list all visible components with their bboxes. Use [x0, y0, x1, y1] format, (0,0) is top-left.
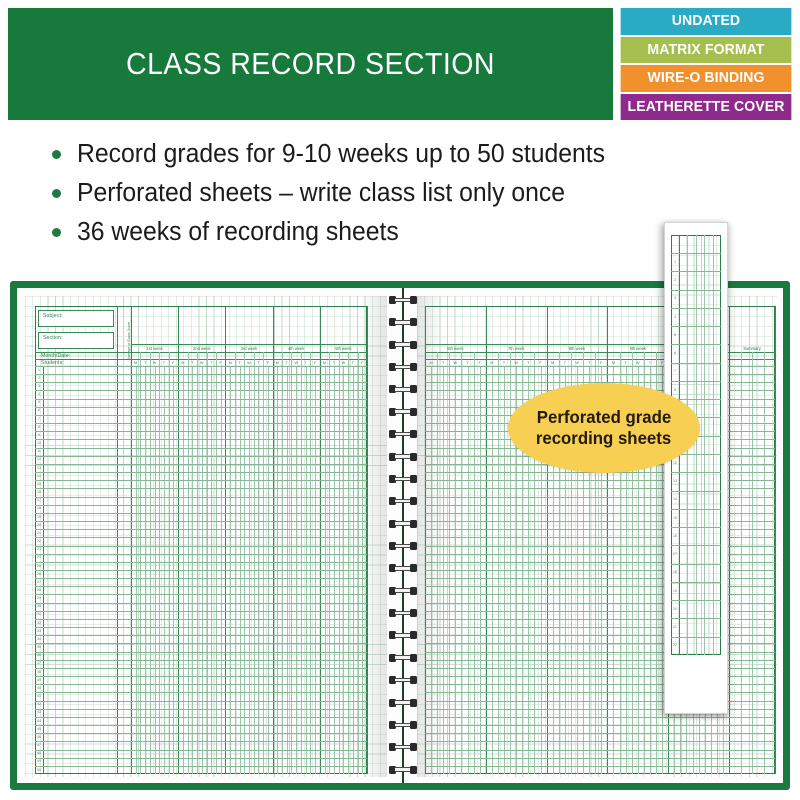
student-row-rule: [35, 709, 367, 710]
student-row-number: 6: [35, 408, 43, 412]
bullet-text: Perforated sheets – write class list onl…: [77, 179, 565, 208]
student-row-number: 29: [35, 596, 43, 600]
student-row-rule: [35, 701, 367, 702]
student-row-number: 34: [35, 637, 43, 641]
day-letter: T: [437, 361, 449, 365]
badge-undated: UNDATED: [621, 8, 792, 35]
day-letter: T: [583, 361, 595, 365]
day-letter: W: [197, 361, 206, 365]
wire-loop: [387, 564, 419, 572]
student-row-rule: [35, 766, 367, 767]
wire-loop-cap-right: [410, 520, 417, 528]
student-row-number: 4: [35, 392, 43, 396]
student-row-number: 21: [35, 531, 43, 535]
bullet-text: Record grades for 9-10 weeks up to 50 st…: [77, 140, 605, 169]
wire-loop-bar: [395, 477, 411, 482]
wire-loop: [387, 721, 419, 729]
lifted-row-rule: [671, 381, 721, 382]
day-letter: M: [547, 361, 559, 365]
student-row-rule: [35, 570, 367, 571]
wire-loop-cap-right: [410, 609, 417, 617]
lifted-row-rule: [671, 527, 721, 528]
student-row-rule: [35, 594, 367, 595]
wire-loop-cap-right: [410, 743, 417, 751]
student-row-rule: [425, 717, 775, 718]
day-letter: F: [216, 361, 225, 365]
wire-loop: [387, 363, 419, 371]
lifted-row-number: 8: [671, 388, 679, 392]
day-letter: M: [425, 361, 437, 365]
student-row-rule: [425, 741, 775, 742]
lifted-row-number: 17: [671, 552, 679, 556]
lifted-row-number: 14: [671, 497, 679, 501]
wire-loop-bar: [395, 723, 411, 728]
wire-o-binding: [387, 288, 419, 783]
student-row-number: 25: [35, 564, 43, 568]
wire-loop-cap-right: [410, 542, 417, 550]
student-row-rule: [35, 464, 367, 465]
day-letter: T: [159, 361, 168, 365]
day-letter: M: [273, 361, 282, 365]
student-row-rule: [35, 415, 367, 416]
week-separator: [178, 306, 179, 774]
student-row-rule: [35, 374, 367, 375]
week-separator: [425, 306, 426, 774]
form-label-section: Section:: [43, 335, 63, 341]
bullet-dot-icon: [52, 189, 61, 198]
week-separator: [486, 306, 487, 774]
student-row-rule: [35, 750, 367, 751]
week-separator: [320, 306, 321, 774]
student-row-rule: [425, 758, 775, 759]
student-row-rule: [425, 725, 775, 726]
wire-loop-bar: [395, 678, 411, 683]
day-letter: T: [329, 361, 338, 365]
student-row-rule: [35, 733, 367, 734]
lifted-row-rule: [671, 326, 721, 327]
student-row-rule: [35, 537, 367, 538]
lifted-row-number: 20: [671, 607, 679, 611]
wire-loop-cap-right: [410, 631, 417, 639]
bullet-item: 36 weeks of recording sheets: [52, 215, 409, 249]
student-row-number: 14: [35, 474, 43, 478]
day-letter: T: [498, 361, 510, 365]
day-letter: T: [235, 361, 244, 365]
lifted-row-number: 12: [671, 461, 679, 465]
day-letter: F: [310, 361, 319, 365]
student-row-rule: [35, 529, 367, 530]
wire-loop: [387, 296, 419, 304]
student-row-number: 30: [35, 604, 43, 608]
wire-loop-cap-right: [410, 676, 417, 684]
student-row-rule: [35, 741, 367, 742]
wire-loop-cap-right: [410, 453, 417, 461]
lifted-row-rule: [671, 491, 721, 492]
student-row-number: 17: [35, 498, 43, 502]
wire-loop-bar: [395, 342, 411, 347]
wire-loop-cap-right: [410, 564, 417, 572]
week-label: 8th week: [547, 346, 608, 351]
lifted-row-rule: [671, 564, 721, 565]
bullet-dot-icon: [52, 150, 61, 159]
student-row-rule: [35, 619, 367, 620]
student-row-number: 27: [35, 580, 43, 584]
callout-line-1: Perforated grade: [537, 407, 671, 428]
lifted-row-rule: [671, 290, 721, 291]
student-row-rule: [35, 505, 367, 506]
lifted-row-rule: [671, 509, 721, 510]
wire-loop-bar: [395, 365, 411, 370]
wire-loop: [387, 609, 419, 617]
student-row-number: 9: [35, 433, 43, 437]
student-row-number: 38: [35, 670, 43, 674]
wire-loop-cap-right: [410, 363, 417, 371]
lifted-row-number: 13: [671, 479, 679, 483]
week-label: 4th week: [273, 346, 320, 351]
student-row-rule: [35, 431, 367, 432]
lifted-row-number: 2: [671, 278, 679, 282]
week-separator: [547, 306, 548, 774]
day-letter: T: [301, 361, 310, 365]
student-row-number: 47: [35, 743, 43, 747]
lifted-row-rule: [671, 472, 721, 473]
wire-loop-bar: [395, 544, 411, 549]
student-row-number: 43: [35, 710, 43, 714]
week-label: 3rd week: [225, 346, 272, 351]
student-row-rule: [35, 456, 367, 457]
wire-loop-cap-right: [410, 296, 417, 304]
badge-matrix-format: MATRIX FORMAT: [621, 37, 792, 64]
wire-loop-bar: [395, 745, 411, 750]
week-label: 6th week: [425, 346, 486, 351]
badge-leatherette-cover: LEATHERETTE COVER: [621, 94, 792, 121]
wire-loop-bar: [395, 566, 411, 571]
wire-loop-cap-right: [410, 699, 417, 707]
wire-loop-cap-right: [410, 475, 417, 483]
lifted-row-number: 22: [671, 643, 679, 647]
lifted-row-rule: [671, 271, 721, 272]
day-letter: M: [225, 361, 234, 365]
day-letter: F: [358, 361, 367, 365]
student-row-rule: [35, 725, 367, 726]
wire-loop-bar: [395, 521, 411, 526]
bullet-item: Record grades for 9-10 weeks up to 50 st…: [52, 137, 621, 171]
student-row-rule: [35, 472, 367, 473]
student-row-number: 13: [35, 466, 43, 470]
student-row-rule: [35, 521, 367, 522]
form-box-section[interactable]: Section:: [38, 332, 114, 349]
student-row-rule: [35, 660, 367, 661]
lifted-row-rule: [671, 637, 721, 638]
header-rule: [35, 352, 367, 353]
lifted-row-rule: [671, 344, 721, 345]
lifted-row-number: 7: [671, 369, 679, 373]
student-row-rule: [425, 766, 775, 767]
wire-loop: [387, 676, 419, 684]
day-letter: F: [169, 361, 178, 365]
lifted-row-number: 1: [671, 260, 679, 264]
wire-loop-bar: [395, 320, 411, 325]
wire-loop-bar: [395, 611, 411, 616]
wire-loop-bar: [395, 432, 411, 437]
student-row-number: 8: [35, 425, 43, 429]
student-row-rule: [35, 676, 367, 677]
wire-loop: [387, 542, 419, 550]
wire-loop: [387, 385, 419, 393]
student-row-number: 24: [35, 555, 43, 559]
week-label: 7th week: [486, 346, 547, 351]
lifted-row-number: 3: [671, 296, 679, 300]
student-row-number: 12: [35, 457, 43, 461]
week-label: 5th week: [320, 346, 367, 351]
student-row-number: 5: [35, 400, 43, 404]
day-letter: T: [644, 361, 656, 365]
student-row-rule: [35, 717, 367, 718]
student-row-number: 10: [35, 441, 43, 445]
student-row-number: 50: [35, 768, 43, 772]
student-row-rule: [35, 643, 367, 644]
student-row-number: 42: [35, 702, 43, 706]
student-row-rule: [35, 497, 367, 498]
student-row-rule: [35, 423, 367, 424]
student-row-number: 44: [35, 719, 43, 723]
lifted-row-rule: [671, 545, 721, 546]
day-letter: T: [282, 361, 291, 365]
wire-loop-cap-right: [410, 721, 417, 729]
lifted-row-number: 19: [671, 589, 679, 593]
wire-loop-bar: [395, 767, 411, 772]
wire-loop-cap-right: [410, 430, 417, 438]
lifted-row-number: 18: [671, 570, 679, 574]
student-row-rule: [35, 382, 367, 383]
day-letter: T: [522, 361, 534, 365]
student-row-rule: [35, 652, 367, 653]
day-letter: M: [486, 361, 498, 365]
student-row-number: 37: [35, 661, 43, 665]
title-banner: CLASS RECORD SECTION: [8, 8, 613, 120]
day-letter: F: [263, 361, 272, 365]
lifted-row-number: 16: [671, 534, 679, 538]
day-letter: F: [534, 361, 546, 365]
day-letter: F: [474, 361, 486, 365]
day-letter: W: [571, 361, 583, 365]
wire-loop: [387, 475, 419, 483]
wire-loop-bar: [395, 454, 411, 459]
wire-loop: [387, 453, 419, 461]
student-row-number: 2: [35, 376, 43, 380]
form-box-subject[interactable]: Subject:: [38, 310, 114, 327]
wire-loop-bar: [395, 499, 411, 504]
wire-loop: [387, 520, 419, 528]
student-row-rule: [35, 407, 367, 408]
student-row-number: 33: [35, 629, 43, 633]
student-row-number: 7: [35, 417, 43, 421]
day-letter: T: [254, 361, 263, 365]
page-title: CLASS RECORD SECTION: [126, 46, 495, 82]
student-row-rule: [35, 366, 367, 367]
student-row-number: 1: [35, 368, 43, 372]
student-row-rule: [35, 554, 367, 555]
col-sep-name: [117, 306, 118, 774]
day-letter: M: [320, 361, 329, 365]
lifted-row-rule: [671, 618, 721, 619]
student-row-rule: [35, 399, 367, 400]
week-separator: [225, 306, 226, 774]
student-row-rule: [425, 733, 775, 734]
wire-loop: [387, 766, 419, 774]
student-row-number: 48: [35, 751, 43, 755]
day-letter: M: [607, 361, 619, 365]
student-row-number: 46: [35, 735, 43, 739]
lifted-row-number: 15: [671, 516, 679, 520]
grid-right-edge: [775, 306, 776, 774]
header-zone: CLASS RECORD SECTION UNDATED MATRIX FORM…: [0, 0, 800, 126]
student-row-number: 41: [35, 694, 43, 698]
day-letter: T: [188, 361, 197, 365]
student-row-rule: [35, 488, 367, 489]
left-page: Subject:Section:Average or Exam ScoreMon…: [25, 296, 387, 777]
bullet-dot-icon: [52, 228, 61, 237]
wire-loop: [387, 743, 419, 751]
day-letter: M: [178, 361, 187, 365]
student-row-number: 35: [35, 645, 43, 649]
form-label-subject: Subject:: [43, 313, 63, 319]
wire-loop-cap-right: [410, 497, 417, 505]
wire-loop: [387, 408, 419, 416]
student-row-number: 45: [35, 727, 43, 731]
wire-loop-bar: [395, 700, 411, 705]
student-row-number: 15: [35, 482, 43, 486]
student-row-number: 23: [35, 547, 43, 551]
lifted-row-rule: [671, 582, 721, 583]
student-row-rule: [35, 513, 367, 514]
day-letter: W: [150, 361, 159, 365]
day-letter: W: [632, 361, 644, 365]
bullet-item: Perforated sheets – write class list onl…: [52, 176, 580, 210]
callout-perforated-sheets: Perforated grade recording sheets: [508, 383, 700, 473]
wire-loop: [387, 430, 419, 438]
week-label: 2nd week: [178, 346, 225, 351]
feature-badge-list: UNDATED MATRIX FORMAT WIRE-O BINDING LEA…: [618, 8, 794, 120]
student-row-rule: [425, 750, 775, 751]
day-letter: T: [348, 361, 357, 365]
day-letter: W: [449, 361, 461, 365]
bullet-text: 36 weeks of recording sheets: [77, 218, 399, 247]
day-letter: T: [620, 361, 632, 365]
week-label: 9th week: [607, 346, 668, 351]
day-letter: W: [510, 361, 522, 365]
wire-loop: [387, 631, 419, 639]
wire-loop-bar: [395, 298, 411, 303]
day-letter: T: [140, 361, 149, 365]
student-row-number: 32: [35, 621, 43, 625]
student-row-rule: [35, 627, 367, 628]
week-separator: [131, 306, 132, 774]
wire-loop-cap-right: [410, 341, 417, 349]
student-row-rule: [35, 611, 367, 612]
week-separator: [273, 306, 274, 774]
wire-loop: [387, 318, 419, 326]
wire-loop-cap-right: [410, 385, 417, 393]
wire-loop: [387, 587, 419, 595]
student-row-number: 19: [35, 515, 43, 519]
student-row-rule: [35, 758, 367, 759]
student-row-number: 26: [35, 572, 43, 576]
student-row-rule: [35, 635, 367, 636]
student-row-rule: [35, 668, 367, 669]
wire-loop-cap-right: [410, 587, 417, 595]
student-row-number: 31: [35, 612, 43, 616]
wire-loop-cap-right: [410, 654, 417, 662]
student-row-number: 40: [35, 686, 43, 690]
student-row-rule: [35, 586, 367, 587]
wire-loop: [387, 654, 419, 662]
day-letter: W: [244, 361, 253, 365]
wire-loop-bar: [395, 633, 411, 638]
grid-right-edge: [367, 306, 368, 774]
label-month-date: Month/Date:: [41, 353, 70, 359]
student-row-rule: [35, 562, 367, 563]
day-letter: T: [207, 361, 216, 365]
student-row-number: 22: [35, 539, 43, 543]
student-row-number: 39: [35, 678, 43, 682]
summary-col-sep: [729, 306, 730, 774]
lifted-row-number: 4: [671, 315, 679, 319]
lifted-row-rule: [671, 253, 721, 254]
wire-loop-bar: [395, 409, 411, 414]
wire-loop: [387, 497, 419, 505]
wire-loop-bar: [395, 588, 411, 593]
wire-loop-bar: [395, 387, 411, 392]
lifted-column-sep: [704, 235, 705, 655]
day-letter: F: [595, 361, 607, 365]
student-row-number: 49: [35, 759, 43, 763]
lifted-row-number: 21: [671, 625, 679, 629]
callout-line-2: recording sheets: [536, 428, 671, 449]
student-row-number: 18: [35, 506, 43, 510]
wire-loop-cap-right: [410, 408, 417, 416]
wire-loop: [387, 341, 419, 349]
lifted-row-rule: [671, 363, 721, 364]
student-row-rule: [35, 546, 367, 547]
day-letter: W: [291, 361, 300, 365]
lifted-perforated-sheet[interactable]: Summary 12345678910111213141516171819202…: [664, 222, 728, 714]
student-row-rule: [35, 448, 367, 449]
student-row-rule: [35, 603, 367, 604]
student-row-number: 3: [35, 384, 43, 388]
week-label: 1st week: [131, 346, 178, 351]
student-row-rule: [35, 439, 367, 440]
day-letter: T: [559, 361, 571, 365]
student-row-number: 28: [35, 588, 43, 592]
student-row-number: 11: [35, 449, 43, 453]
student-row-number: 36: [35, 653, 43, 657]
student-row-rule: [35, 692, 367, 693]
lifted-column-sep: [696, 235, 697, 655]
lifted-row-number: 6: [671, 351, 679, 355]
wire-loop-cap-right: [410, 318, 417, 326]
lifted-row-rule: [671, 600, 721, 601]
wire-loop-bar: [395, 655, 411, 660]
lifted-column-sep: [713, 235, 714, 655]
student-row-rule: [35, 684, 367, 685]
wire-loop: [387, 699, 419, 707]
week-separator: [607, 306, 608, 774]
badge-wire-o-binding: WIRE-O BINDING: [621, 65, 792, 92]
day-letter: T: [461, 361, 473, 365]
student-row-number: 20: [35, 523, 43, 527]
student-row-rule: [35, 390, 367, 391]
